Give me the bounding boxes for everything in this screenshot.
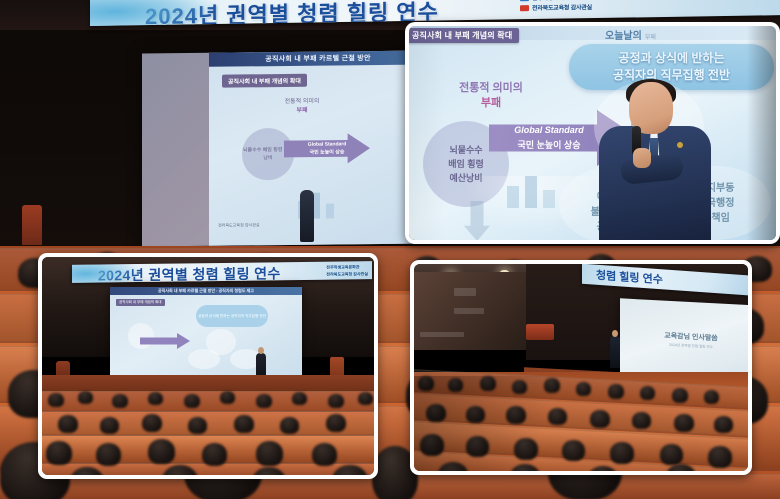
panel-speaker-closeup: 공직사회 내 부패 개념의 확대 오늘날의부패 공정과 상식에 반하는 공직자의… (405, 22, 780, 244)
panel-b-slide-blob-1 (128, 323, 154, 349)
background-slide-traditional: 전통적 의미의 부패 (257, 97, 347, 116)
panel-c-image: 청렴 힐링 연수 교육감님 인사말씀 2024년 권역별 청렴 힐링 연수 (414, 264, 748, 471)
panel-c-speaker (610, 336, 620, 368)
panel-b-slide-title: 공직사회 내 부패 카르텔 근절 방안 : 공직자의 청렴도 제고 (110, 287, 302, 295)
photo-collage: 2024년 권역별 청렴 힐링 연수 전주학생교육문화관 전라북도교육청 감사관… (0, 0, 780, 499)
panel-c-aisle-shadow (414, 376, 748, 471)
panel-auditorium-front: 2024년 권역별 청렴 힐링 연수 전주학생교육문화관 전라북도교육청 감사관… (38, 253, 378, 479)
panel-b-image: 2024년 권역별 청렴 힐링 연수 전주학생교육문화관 전라북도교육청 감사관… (42, 257, 374, 475)
panel-a-vignette (409, 26, 776, 240)
stage-loudspeaker (300, 190, 314, 242)
panel-b-banner-hosts: 전주학생교육문화관 전라북도교육청 감사관실 (326, 263, 368, 278)
background-slide-chip: 공직사회 내 부패 개념의 확대 (222, 74, 307, 88)
event-banner-hosts: 전주학생교육문화관 전라북도교육청 감사관실 (520, 0, 592, 14)
panel-b-projection-screen: 공직사회 내 부패 카르텔 근절 방안 : 공직자의 청렴도 제고 공직사회 내… (110, 287, 302, 375)
panel-b-audience (42, 391, 374, 475)
stage-podium (22, 205, 42, 245)
host-logo-2-icon (520, 6, 529, 12)
host-line-1: 전주학생교육문화관 (532, 0, 580, 2)
background-projection-screen: 공직사회 내 부패 카르텔 근절 방안 공직사회 내 부패 개념의 확대 전통적… (142, 51, 427, 247)
panel-c-wall-panel (526, 324, 554, 340)
panel-b-slide-chip: 공직사회 내 부패 개념의 확대 (116, 299, 165, 306)
panel-b-slide-pill: 공정과 상식에 반하는 공직자의 직무집행 전반 (196, 305, 268, 327)
background-slide-title: 공직사회 내 부패 카르텔 근절 방안 (209, 51, 427, 67)
panel-b-banner: 2024년 권역별 청렴 힐링 연수 전주학생교육문화관 전라북도교육청 감사관… (72, 261, 372, 283)
panel-auditorium-side: 청렴 힐링 연수 교육감님 인사말씀 2024년 권역별 청렴 힐링 연수 (410, 260, 752, 475)
background-slide-footer-logo: 전라북도교육청 감사관실 (218, 222, 260, 228)
panel-c-banner-title: 청렴 힐링 연수 (596, 267, 663, 288)
panel-a-image: 공직사회 내 부패 개념의 확대 오늘날의부패 공정과 상식에 반하는 공직자의… (409, 26, 776, 240)
host-logo-icon (520, 0, 529, 2)
panel-b-banner-title: 2024년 권역별 청렴 힐링 연수 (98, 263, 281, 283)
host-line-2: 전라북도교육청 감사관실 (532, 5, 592, 12)
panel-b-slide-blob-3 (188, 349, 220, 369)
